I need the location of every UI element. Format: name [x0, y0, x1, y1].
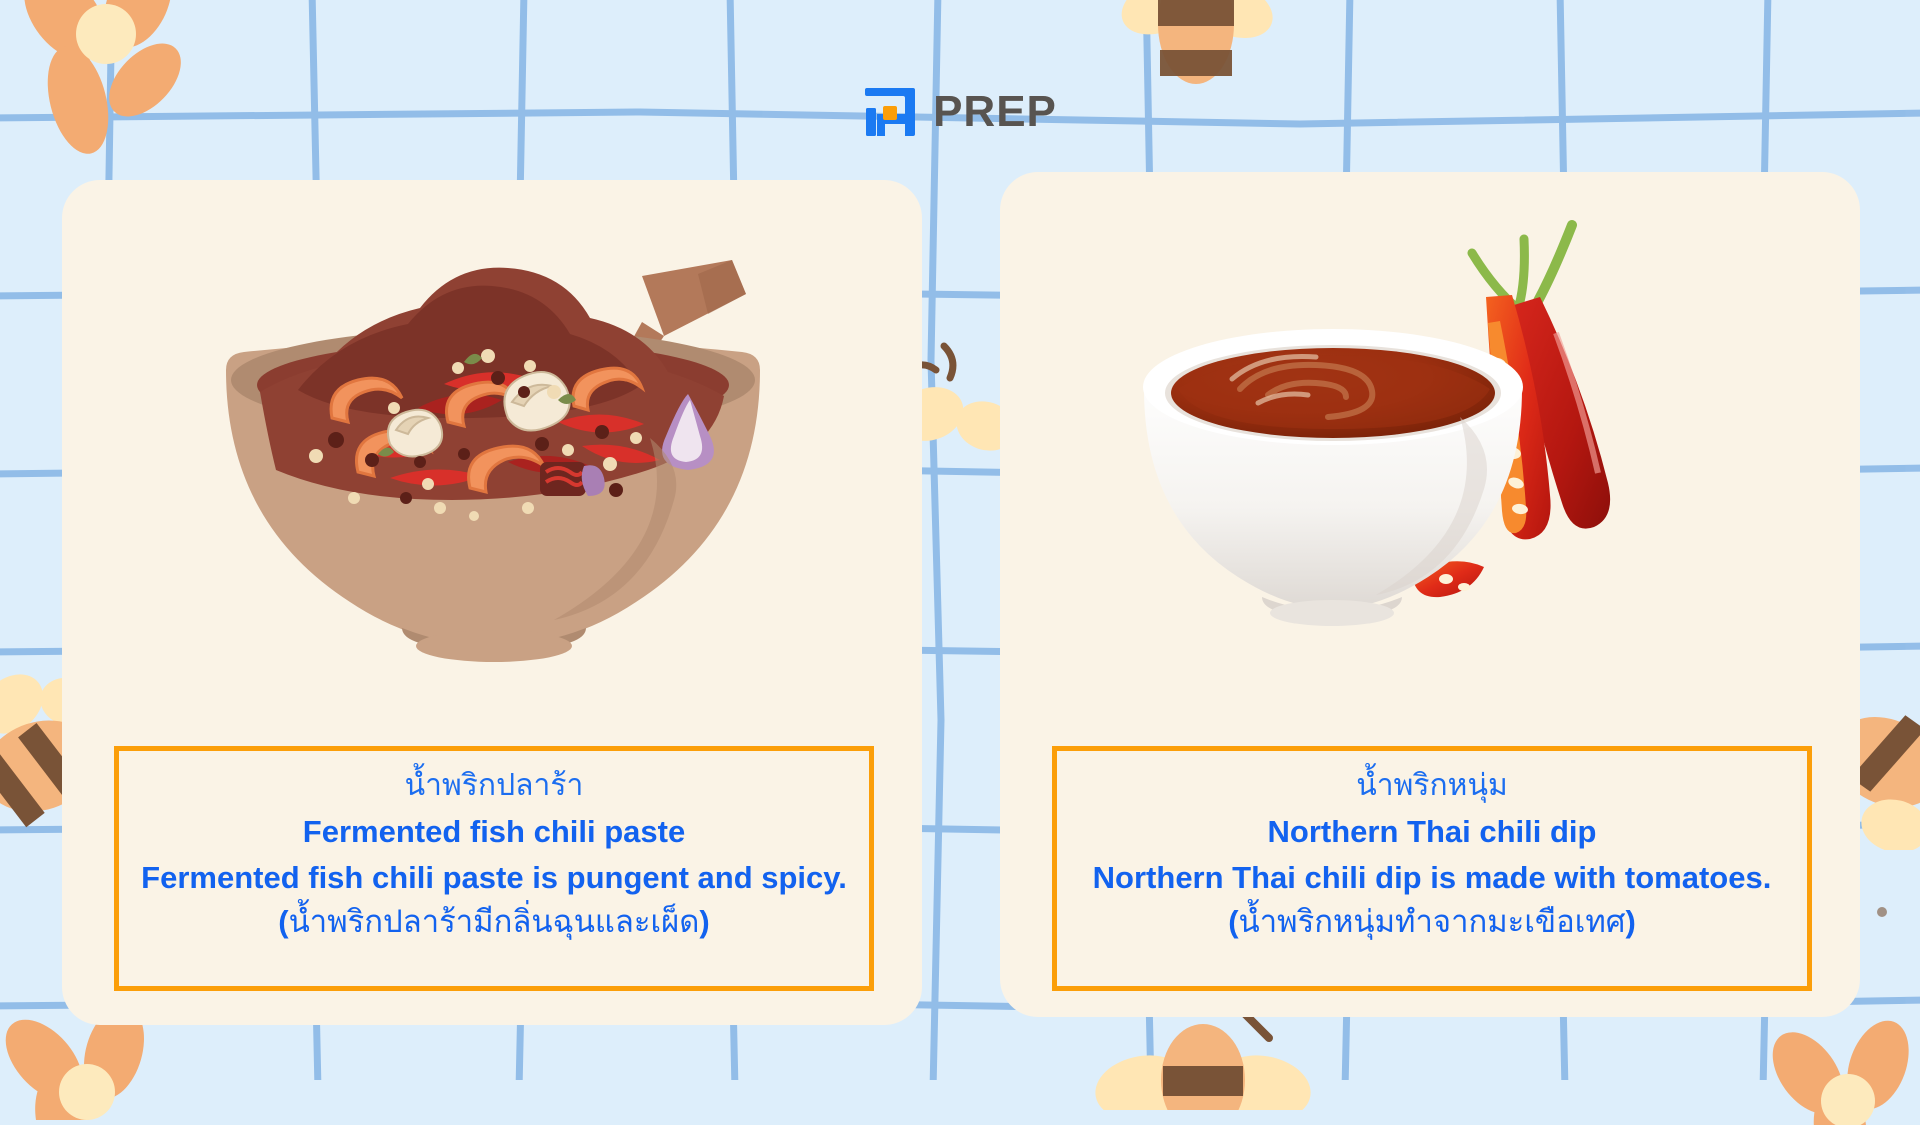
example-sentence-right: Northern Thai chili dip is made with tom…: [1067, 856, 1797, 944]
thai-title-right: น้ำพริกหนุ่ม: [1067, 765, 1797, 808]
illustration-fermented-fish-chili-paste: [62, 180, 922, 740]
infographic-canvas: PREP: [0, 0, 1920, 1080]
prep-logo-mark: [863, 84, 919, 140]
caption-box-right: น้ำพริกหนุ่ม Northern Thai chili dip Nor…: [1052, 746, 1812, 991]
example-sentence-left: Fermented fish chili paste is pungent an…: [129, 856, 859, 944]
english-title-left: Fermented fish chili paste: [129, 810, 859, 854]
card-northern-thai-chili-dip[interactable]: น้ำพริกหนุ่ม Northern Thai chili dip Nor…: [1000, 172, 1860, 1017]
example-close-right: ): [1625, 904, 1635, 939]
brand-logo[interactable]: PREP: [0, 84, 1920, 140]
example-close-left: ): [699, 904, 709, 939]
brand-logo-text: PREP: [933, 90, 1057, 134]
wooden-bowl-of-fermented-fish-chili-paste-with-spoon-icon: [212, 240, 772, 680]
english-title-right: Northern Thai chili dip: [1067, 810, 1797, 854]
white-bowl-of-red-chili-dip-with-fresh-chilies-icon: [1120, 217, 1740, 687]
thai-title-left: น้ำพริกปลาร้า: [129, 765, 859, 808]
illustration-northern-thai-chili-dip: [1000, 172, 1860, 732]
caption-box-left: น้ำพริกปลาร้า Fermented fish chili paste…: [114, 746, 874, 991]
example-thai-left: น้ำพริกปลาร้ามีกลิ่นฉุนและเผ็ด: [289, 904, 700, 940]
card-fermented-fish-chili-paste[interactable]: น้ำพริกปลาร้า Fermented fish chili paste…: [62, 180, 922, 1025]
example-thai-right: น้ำพริกหนุ่มทำจากมะเขือเทศ: [1239, 904, 1626, 940]
